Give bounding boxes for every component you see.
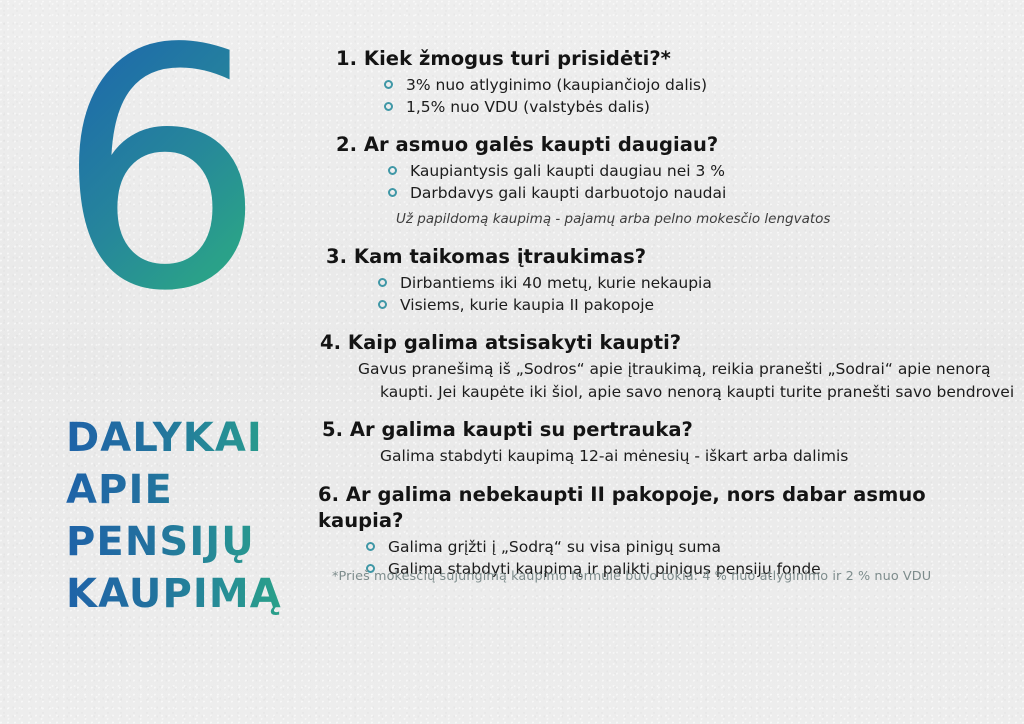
- bullet-circle-icon: [388, 166, 397, 175]
- question-heading-5: 5. Ar galima kaupti su pertrauka?: [322, 417, 1018, 443]
- list-item: 3% nuo atlyginimo (kaupiančiojo dalis): [384, 74, 1018, 96]
- question-heading-3: 3. Kam taikomas įtraukimas?: [326, 244, 1018, 270]
- question-heading-1: 1. Kiek žmogus turi prisidėti?*: [336, 46, 1018, 72]
- bullet-text: 3% nuo atlyginimo (kaupiančiojo dalis): [406, 74, 1018, 96]
- bullet-text: Visiems, kurie kaupia II pakopoje: [400, 294, 1018, 316]
- question-paragraph-5: Galima stabdyti kaupimą 12-ai mėnesių - …: [322, 445, 1018, 468]
- left-panel: 6 DALYKAI APIE PENSIJŲ KAUPIMĄ: [0, 0, 320, 724]
- brand-title-line-3: PENSIJŲ: [66, 516, 316, 568]
- question-block-6: 6. Ar galima nebekaupti II pakopoje, nor…: [318, 482, 1018, 580]
- question-block-2: 2. Ar asmuo galės kaupti daugiau? Kaupia…: [336, 132, 1018, 229]
- question-heading-6: 6. Ar galima nebekaupti II pakopoje, nor…: [318, 482, 1018, 534]
- big-numeral-6: 6: [56, 6, 260, 336]
- bullet-text: Kaupiantysis gali kaupti daugiau nei 3 %: [410, 160, 1018, 182]
- bullet-circle-icon: [366, 542, 375, 551]
- bullet-circle-icon: [378, 300, 387, 309]
- bullet-circle-icon: [384, 80, 393, 89]
- bullet-text: 1,5% nuo VDU (valstybės dalis): [406, 96, 1018, 118]
- question-note-2: Už papildomą kaupimą - pajamų arba pelno…: [336, 209, 1018, 229]
- question-block-1: 1. Kiek žmogus turi prisidėti?* 3% nuo a…: [336, 46, 1018, 118]
- slide-canvas: 6 DALYKAI APIE PENSIJŲ KAUPIMĄ 1. Kiek ž…: [0, 0, 1024, 724]
- question-block-3: 3. Kam taikomas įtraukimas? Dirbantiems …: [326, 244, 1018, 316]
- footnote: *Prieš mokesčių sujungimą kaupimo formul…: [332, 568, 931, 586]
- question-heading-4: 4. Kaip galima atsisakyti kaupti?: [320, 330, 1018, 356]
- question-block-4: 4. Kaip galima atsisakyti kaupti? Gavus …: [320, 330, 1018, 404]
- bullet-circle-icon: [388, 188, 397, 197]
- brand-title-line-4: KAUPIMĄ: [66, 568, 316, 620]
- list-item: Kaupiantysis gali kaupti daugiau nei 3 %: [388, 160, 1018, 182]
- question-heading-2: 2. Ar asmuo galės kaupti daugiau?: [336, 132, 1018, 158]
- question-bullets-1: 3% nuo atlyginimo (kaupiančiojo dalis) 1…: [336, 74, 1018, 118]
- list-item: 1,5% nuo VDU (valstybės dalis): [384, 96, 1018, 118]
- questions-list: 1. Kiek žmogus turi prisidėti?* 3% nuo a…: [318, 46, 1018, 587]
- bullet-circle-icon: [384, 102, 393, 111]
- question-paragraph-4: Gavus pranešimą iš „Sodros“ apie įtrauki…: [320, 358, 1018, 404]
- bullet-text: Darbdavys gali kaupti darbuotojo naudai: [410, 182, 1018, 204]
- brand-title: DALYKAI APIE PENSIJŲ KAUPIMĄ: [66, 412, 316, 620]
- question-bullets-3: Dirbantiems iki 40 metų, kurie nekaupia …: [326, 272, 1018, 316]
- list-item: Visiems, kurie kaupia II pakopoje: [378, 294, 1018, 316]
- bullet-circle-icon: [378, 278, 387, 287]
- brand-title-line-2: APIE: [66, 464, 316, 516]
- question-block-5: 5. Ar galima kaupti su pertrauka? Galima…: [322, 417, 1018, 468]
- brand-title-line-1: DALYKAI: [66, 412, 316, 464]
- bullet-text: Galima grįžti į „Sodrą“ su visa pinigų s…: [388, 536, 1018, 558]
- list-item: Dirbantiems iki 40 metų, kurie nekaupia: [378, 272, 1018, 294]
- question-bullets-2: Kaupiantysis gali kaupti daugiau nei 3 %…: [336, 160, 1018, 204]
- list-item: Galima grįžti į „Sodrą“ su visa pinigų s…: [366, 536, 1018, 558]
- bullet-text: Dirbantiems iki 40 metų, kurie nekaupia: [400, 272, 1018, 294]
- list-item: Darbdavys gali kaupti darbuotojo naudai: [388, 182, 1018, 204]
